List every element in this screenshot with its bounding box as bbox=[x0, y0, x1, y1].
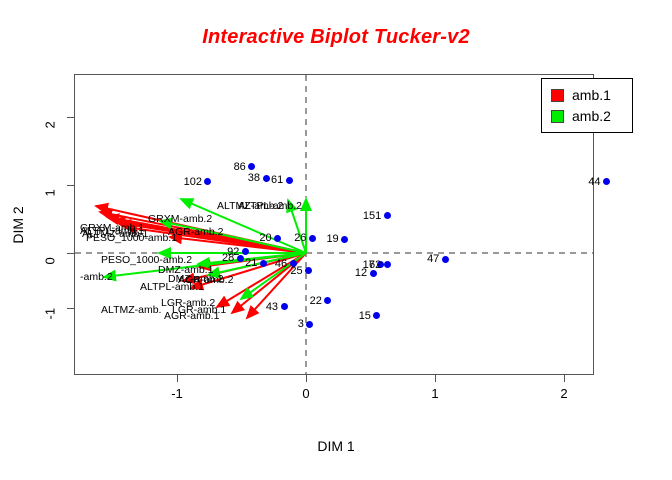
legend: amb.1 amb.2 bbox=[541, 78, 633, 133]
data-point-label: 19 bbox=[326, 233, 338, 245]
x-tick-mark bbox=[177, 375, 178, 382]
legend-label-amb1: amb.1 bbox=[572, 87, 611, 103]
y-tick-mark bbox=[67, 308, 74, 309]
y-tick-mark bbox=[67, 185, 74, 186]
data-point-label: 44 bbox=[588, 176, 600, 188]
data-point-label: 25 bbox=[290, 265, 302, 277]
data-point[interactable] bbox=[384, 212, 391, 219]
x-tick-mark bbox=[435, 375, 436, 382]
legend-item-amb1[interactable]: amb.1 bbox=[551, 85, 611, 105]
data-point-label: 61 bbox=[271, 174, 283, 186]
data-point-label: 20 bbox=[259, 232, 271, 244]
legend-item-amb2[interactable]: amb.2 bbox=[551, 106, 611, 126]
data-point-label: 47 bbox=[427, 253, 439, 265]
data-point-label: 21 bbox=[245, 257, 257, 269]
data-point-label: 151 bbox=[363, 210, 381, 222]
x-axis-title: DIM 1 bbox=[0, 438, 672, 454]
x-tick-label: -1 bbox=[157, 386, 197, 401]
y-tick-label: 1 bbox=[43, 177, 58, 197]
data-point[interactable] bbox=[260, 260, 267, 267]
data-point[interactable] bbox=[274, 235, 281, 242]
data-point-label: 43 bbox=[266, 301, 278, 313]
data-point[interactable] bbox=[309, 235, 316, 242]
vector-label: ALTMZ-amb. bbox=[101, 304, 161, 316]
data-point-label: 22 bbox=[310, 295, 322, 307]
vector-label: GRXM-amb.2 bbox=[148, 213, 212, 225]
data-point[interactable] bbox=[263, 175, 270, 182]
data-point-label: 38 bbox=[248, 172, 260, 184]
data-point[interactable] bbox=[237, 255, 244, 262]
x-tick-mark bbox=[564, 375, 565, 382]
data-point-label: 86 bbox=[234, 161, 246, 173]
data-point-label: 62 bbox=[369, 259, 381, 271]
vector-label: ALTMZ-amb.1 bbox=[82, 228, 148, 240]
data-point-label: 3 bbox=[298, 318, 304, 330]
legend-swatch-amb2 bbox=[551, 110, 564, 123]
y-tick-label: -1 bbox=[43, 300, 58, 320]
data-point-label: 12 bbox=[355, 267, 367, 279]
vector-label: AGR-amb.2 bbox=[168, 226, 223, 238]
data-point-label: 28 bbox=[222, 252, 234, 264]
x-tick-label: 2 bbox=[544, 386, 584, 401]
vector-label: AGR-amb.1 bbox=[164, 310, 219, 322]
y-axis-title: DIM 2 bbox=[10, 185, 26, 265]
y-tick-mark bbox=[67, 253, 74, 254]
data-point[interactable] bbox=[242, 248, 249, 255]
data-point-label: 15 bbox=[359, 310, 371, 322]
legend-label-amb2: amb.2 bbox=[572, 108, 611, 124]
data-point-label: 46 bbox=[275, 258, 287, 270]
data-point[interactable] bbox=[370, 270, 377, 277]
x-tick-label: 1 bbox=[415, 386, 455, 401]
vector-label: -amb.2 bbox=[80, 271, 113, 283]
y-tick-mark bbox=[67, 117, 74, 118]
vector-label: ALTPL-amb.1 bbox=[140, 281, 204, 293]
data-point[interactable] bbox=[384, 261, 391, 268]
x-tick-mark bbox=[306, 375, 307, 382]
y-tick-label: 2 bbox=[43, 109, 58, 129]
data-point[interactable] bbox=[442, 256, 449, 263]
data-point[interactable] bbox=[286, 177, 293, 184]
data-point-label: 102 bbox=[184, 176, 202, 188]
vector-label: ALTPL-amb.2 bbox=[238, 200, 302, 212]
data-point-label: 26 bbox=[294, 232, 306, 244]
y-tick-label: 0 bbox=[43, 245, 58, 265]
x-tick-label: 0 bbox=[286, 386, 326, 401]
biplot-app: Interactive Biplot Tucker-v2 bbox=[0, 0, 672, 480]
data-point[interactable] bbox=[281, 303, 288, 310]
legend-swatch-amb1 bbox=[551, 89, 564, 102]
